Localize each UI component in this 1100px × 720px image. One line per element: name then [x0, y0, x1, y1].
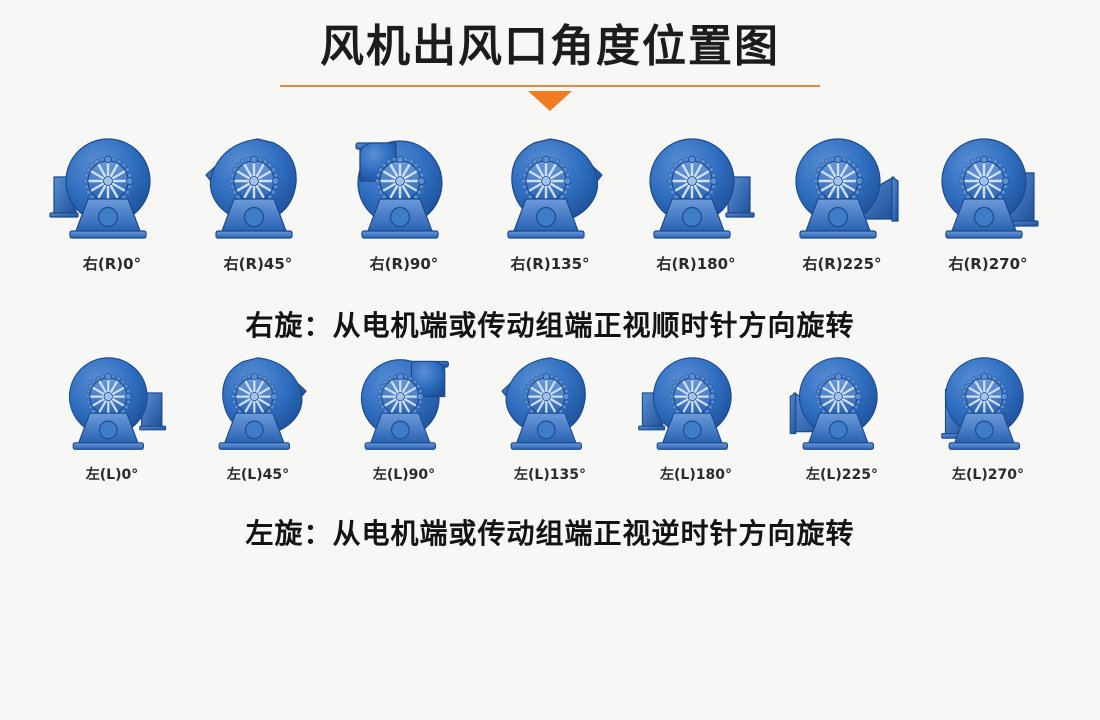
fan-item: 右(R)135°: [481, 133, 619, 274]
fan-row-left-rotation: 左(L)0° 左(L)45°: [0, 352, 1100, 484]
fan-item: 右(R)0°: [43, 133, 181, 274]
fan-item: 左(L)90°: [335, 352, 473, 484]
fan-row-right-rotation: 右(R)0° 右(R)45°: [0, 133, 1100, 274]
fan-item: 左(L)180°: [627, 352, 765, 484]
triangle-down-icon: [528, 91, 572, 111]
fan-outlet-180-icon: [635, 352, 757, 456]
fan-angle-label: 左(L)0°: [86, 464, 138, 484]
fan-item: 左(L)270°: [919, 352, 1057, 484]
fan-angle-label: 右(R)45°: [224, 253, 293, 274]
fan-angle-label: 右(R)0°: [83, 253, 141, 274]
fan-item: 右(R)270°: [919, 133, 1057, 274]
fan-outlet-angle-diagram-page: 风机出风口角度位置图: [0, 0, 1100, 720]
fan-item: 右(R)90°: [335, 133, 473, 274]
fan-outlet-0-icon: [46, 133, 178, 245]
fan-angle-label: 右(R)135°: [510, 253, 589, 274]
fan-item: 左(L)0°: [43, 352, 181, 484]
fan-angle-label: 右(R)270°: [948, 253, 1027, 274]
caption-left-rotation: 左旋：从电机端或传动组端正视逆时针方向旋转: [0, 512, 1100, 552]
fan-item: 右(R)180°: [627, 133, 765, 274]
fan-item: 左(L)45°: [189, 352, 327, 484]
fan-item: 右(R)225°: [773, 133, 911, 274]
title-underline: [280, 85, 820, 87]
fan-angle-label: 左(L)90°: [373, 464, 435, 484]
caption-right-rotation: 右旋：从电机端或传动组端正视顺时针方向旋转: [0, 304, 1100, 344]
fan-outlet-135-icon: [484, 133, 616, 245]
page-title: 风机出风口角度位置图: [0, 22, 1100, 73]
fan-outlet-90-icon: [338, 133, 470, 245]
fan-angle-label: 右(R)180°: [656, 253, 735, 274]
fan-outlet-45-icon: [192, 133, 324, 245]
fan-outlet-135-icon: [489, 352, 611, 456]
fan-angle-label: 右(R)90°: [370, 253, 439, 274]
fan-angle-label: 左(L)135°: [514, 464, 586, 484]
fan-outlet-270-icon: [922, 133, 1054, 245]
fan-outlet-225-icon: [781, 352, 903, 456]
fan-outlet-270-icon: [927, 352, 1049, 456]
fan-angle-label: 左(L)225°: [806, 464, 878, 484]
fan-outlet-180-icon: [630, 133, 762, 245]
fan-outlet-45-icon: [197, 352, 319, 456]
fan-outlet-90-icon: [343, 352, 465, 456]
fan-angle-label: 左(L)270°: [952, 464, 1024, 484]
page-header: 风机出风口角度位置图: [0, 0, 1100, 111]
fan-item: 左(L)225°: [773, 352, 911, 484]
fan-outlet-0-icon: [51, 352, 173, 456]
fan-item: 左(L)135°: [481, 352, 619, 484]
fan-angle-label: 左(L)45°: [227, 464, 289, 484]
fan-item: 右(R)45°: [189, 133, 327, 274]
fan-angle-label: 右(R)225°: [802, 253, 881, 274]
fan-outlet-225-icon: [776, 133, 908, 245]
fan-angle-label: 左(L)180°: [660, 464, 732, 484]
